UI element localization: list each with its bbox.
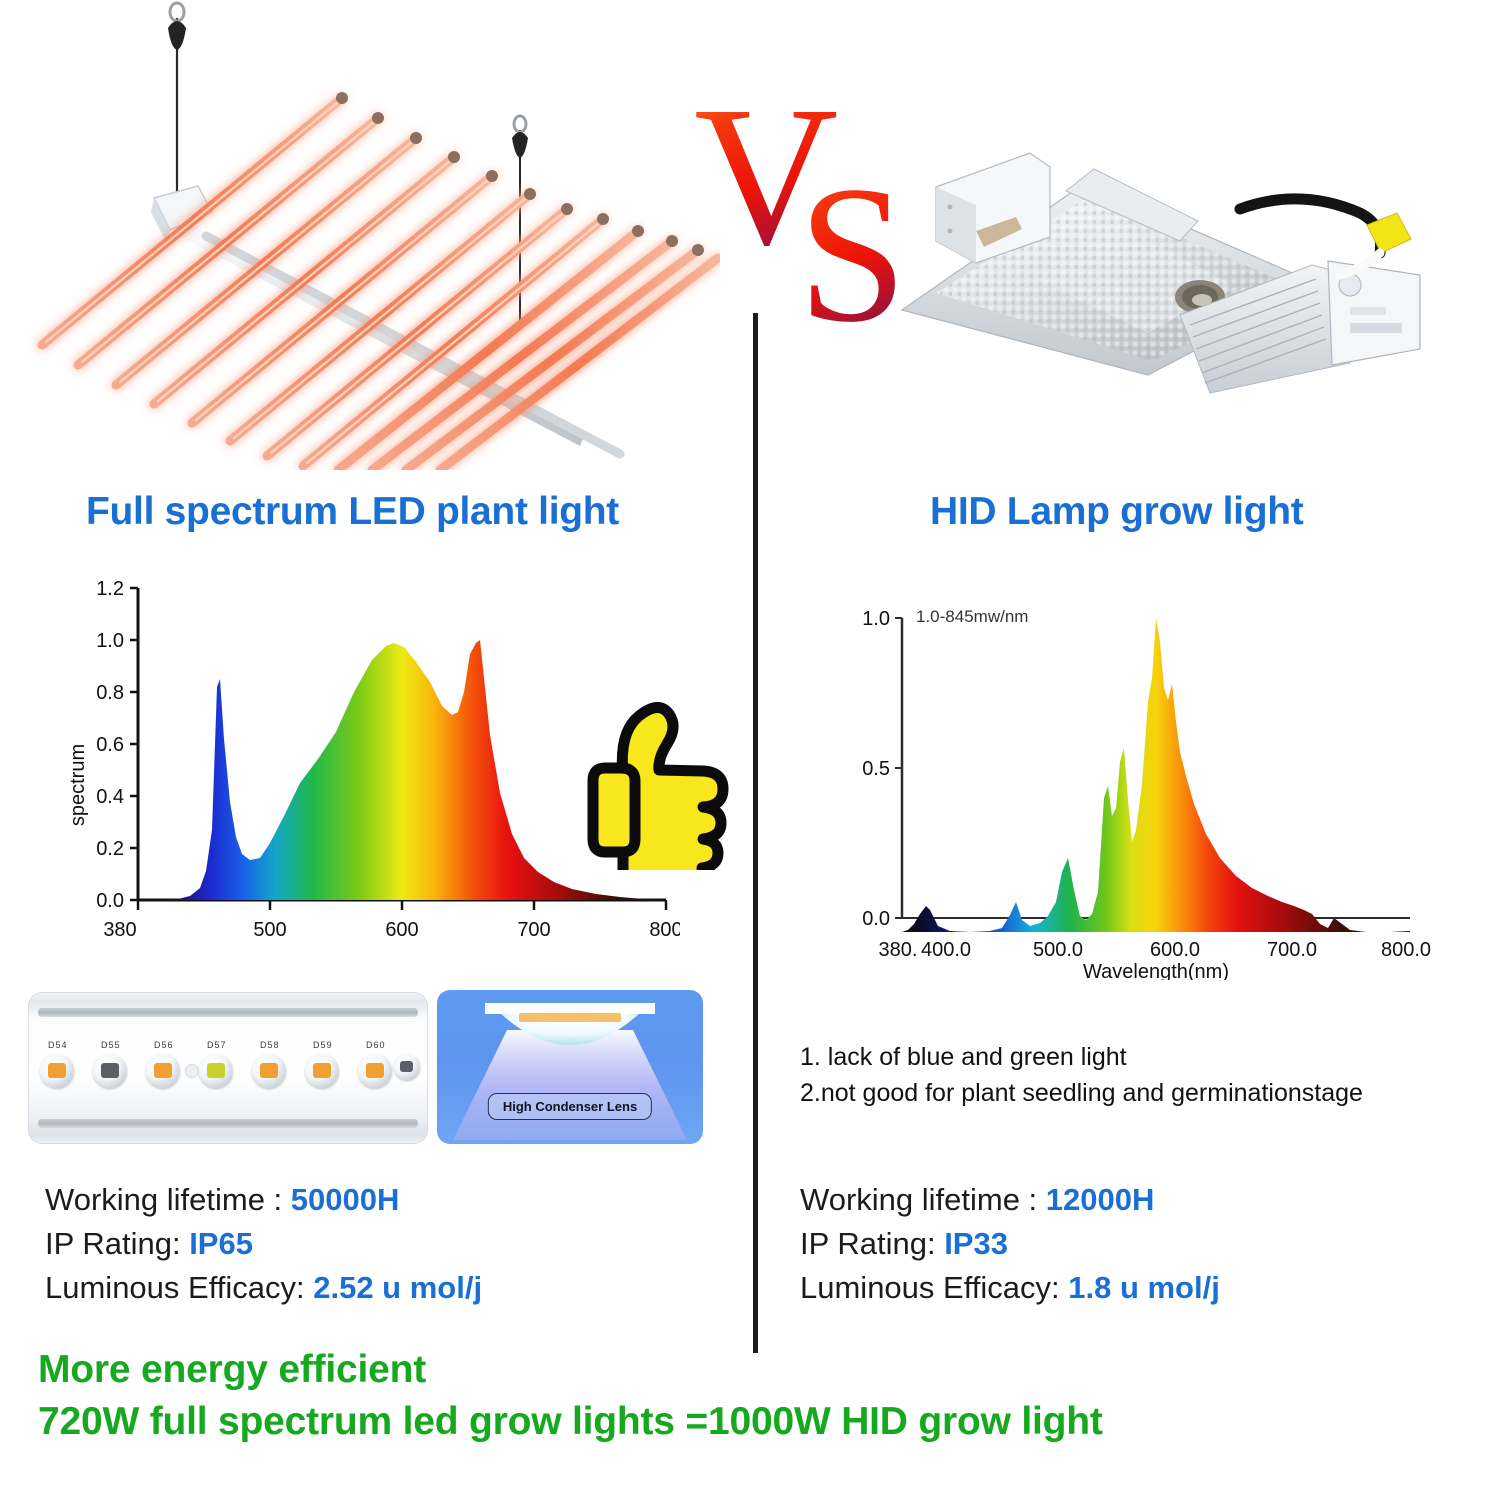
x-tick-labels: 380500 600700 800 bbox=[103, 919, 680, 941]
led-diode bbox=[199, 1054, 233, 1088]
spec-key: Working lifetime : bbox=[45, 1182, 291, 1217]
led-section-title: Full spectrum LED plant light bbox=[86, 490, 619, 534]
drawback-item: 2.not good for plant seedling and germin… bbox=[800, 1079, 1363, 1108]
svg-text:1.2: 1.2 bbox=[96, 578, 124, 600]
led-diode bbox=[40, 1054, 74, 1088]
spec-key: Luminous Efficacy: bbox=[45, 1270, 313, 1305]
footer-headline: More energy efficient bbox=[38, 1348, 1103, 1392]
led-diode bbox=[394, 1054, 420, 1080]
svg-text:500: 500 bbox=[253, 919, 286, 941]
high-condenser-lens-diagram: High Condenser Lens bbox=[437, 990, 703, 1144]
svg-text:0.0: 0.0 bbox=[96, 890, 124, 912]
vertical-divider bbox=[753, 313, 758, 1353]
spec-value: IP33 bbox=[944, 1226, 1008, 1261]
spec-value: 12000H bbox=[1046, 1182, 1155, 1217]
led-diode bbox=[93, 1054, 127, 1088]
thumbs-up-icon bbox=[565, 690, 740, 870]
spec-row-luminous-efficacy: Luminous Efficacy: 1.8 u mol/j bbox=[800, 1270, 1220, 1306]
led-code-label: D57 bbox=[207, 1040, 227, 1050]
spec-row-ip-rating: IP Rating: IP65 bbox=[45, 1226, 482, 1262]
svg-text:600: 600 bbox=[385, 919, 418, 941]
spec-value: 2.52 u mol/j bbox=[313, 1270, 482, 1305]
svg-text:1.0: 1.0 bbox=[862, 608, 890, 630]
spec-value: IP65 bbox=[189, 1226, 253, 1261]
spec-row-working-lifetime: Working lifetime : 12000H bbox=[800, 1182, 1220, 1218]
svg-text:0.6: 0.6 bbox=[96, 734, 124, 756]
svg-text:0.2: 0.2 bbox=[96, 838, 124, 860]
led-diode bbox=[252, 1054, 286, 1088]
svg-text:800.0: 800.0 bbox=[1381, 939, 1431, 961]
x-tick-labels: 380. 400.0 500.0 600.0 700.0 800.0 bbox=[879, 939, 1432, 961]
svg-text:700.0: 700.0 bbox=[1267, 939, 1317, 961]
y-tick-labels: 0.0 0.5 1.0 bbox=[862, 608, 890, 930]
footer-comparison: 720W full spectrum led grow lights =1000… bbox=[38, 1400, 1103, 1444]
led-code-label: D60 bbox=[366, 1040, 386, 1050]
hid-chart-annotation: 1.0-845mw/nm bbox=[916, 607, 1028, 626]
x-axis-title: Wavelength(nm) bbox=[1083, 961, 1229, 980]
svg-text:400.0: 400.0 bbox=[921, 939, 971, 961]
spec-key: IP Rating: bbox=[800, 1226, 944, 1261]
footer-summary: More energy efficient 720W full spectrum… bbox=[38, 1348, 1103, 1444]
led-code-label: D59 bbox=[313, 1040, 333, 1050]
hid-spectrum-chart: 1.0-845mw/nm 0.0 0.5 1.0 380. 400.0 500.… bbox=[850, 580, 1450, 980]
led-code-label: D58 bbox=[260, 1040, 280, 1050]
svg-text:700: 700 bbox=[517, 919, 550, 941]
drawback-item: 1. lack of blue and green light bbox=[800, 1043, 1363, 1072]
solder-pad bbox=[185, 1064, 199, 1078]
svg-text:600.0: 600.0 bbox=[1150, 939, 1200, 961]
led-bars bbox=[42, 98, 718, 470]
spec-key: Luminous Efficacy: bbox=[800, 1270, 1068, 1305]
spec-row-luminous-efficacy: Luminous Efficacy: 2.52 u mol/j bbox=[45, 1270, 482, 1306]
led-code-label: D54 bbox=[48, 1040, 68, 1050]
pcb-bar bbox=[485, 1003, 655, 1014]
hid-section-title: HID Lamp grow light bbox=[930, 490, 1303, 534]
spec-value: 1.8 u mol/j bbox=[1068, 1270, 1220, 1305]
svg-text:1.0: 1.0 bbox=[96, 630, 124, 652]
svg-text:500.0: 500.0 bbox=[1033, 939, 1083, 961]
led-bar-grow-light-image bbox=[20, 0, 720, 470]
led-code-label: D56 bbox=[154, 1040, 174, 1050]
svg-text:800: 800 bbox=[649, 919, 680, 941]
svg-text:380.: 380. bbox=[879, 939, 918, 961]
svg-text:0.0: 0.0 bbox=[862, 908, 890, 930]
led-strip-closeup-image: D54 D55 D56 D57 D58 D59 D60 bbox=[28, 992, 428, 1144]
svg-text:0.8: 0.8 bbox=[96, 682, 124, 704]
led-diode bbox=[146, 1054, 180, 1088]
led-spec-list: Working lifetime : 50000H IP Rating: IP6… bbox=[45, 1182, 482, 1306]
hid-drawbacks-list: 1. lack of blue and green light 2.not go… bbox=[800, 1043, 1363, 1108]
y-axis-title: spectrum bbox=[67, 744, 89, 826]
hid-reflector-grow-light-image bbox=[880, 125, 1450, 415]
lens-label: High Condenser Lens bbox=[488, 1093, 652, 1120]
led-diode bbox=[358, 1054, 392, 1088]
svg-text:380: 380 bbox=[103, 919, 136, 941]
led-code-label: D55 bbox=[101, 1040, 121, 1050]
spec-key: IP Rating: bbox=[45, 1226, 189, 1261]
svg-text:0.5: 0.5 bbox=[862, 758, 890, 780]
hanger-rope-left bbox=[168, 3, 186, 196]
spec-row-ip-rating: IP Rating: IP33 bbox=[800, 1226, 1220, 1262]
spec-key: Working lifetime : bbox=[800, 1182, 1046, 1217]
spec-value: 50000H bbox=[291, 1182, 400, 1217]
spec-row-working-lifetime: Working lifetime : 50000H bbox=[45, 1182, 482, 1218]
hid-spec-list: Working lifetime : 12000H IP Rating: IP3… bbox=[800, 1182, 1220, 1306]
led-diode bbox=[305, 1054, 339, 1088]
led-chip-bar bbox=[519, 1013, 621, 1022]
svg-text:0.4: 0.4 bbox=[96, 786, 124, 808]
light-beam bbox=[453, 1030, 687, 1140]
hid-spectrum-area bbox=[902, 618, 1410, 932]
y-tick-labels: 0.00.2 0.40.6 0.81.0 1.2 bbox=[96, 578, 124, 912]
